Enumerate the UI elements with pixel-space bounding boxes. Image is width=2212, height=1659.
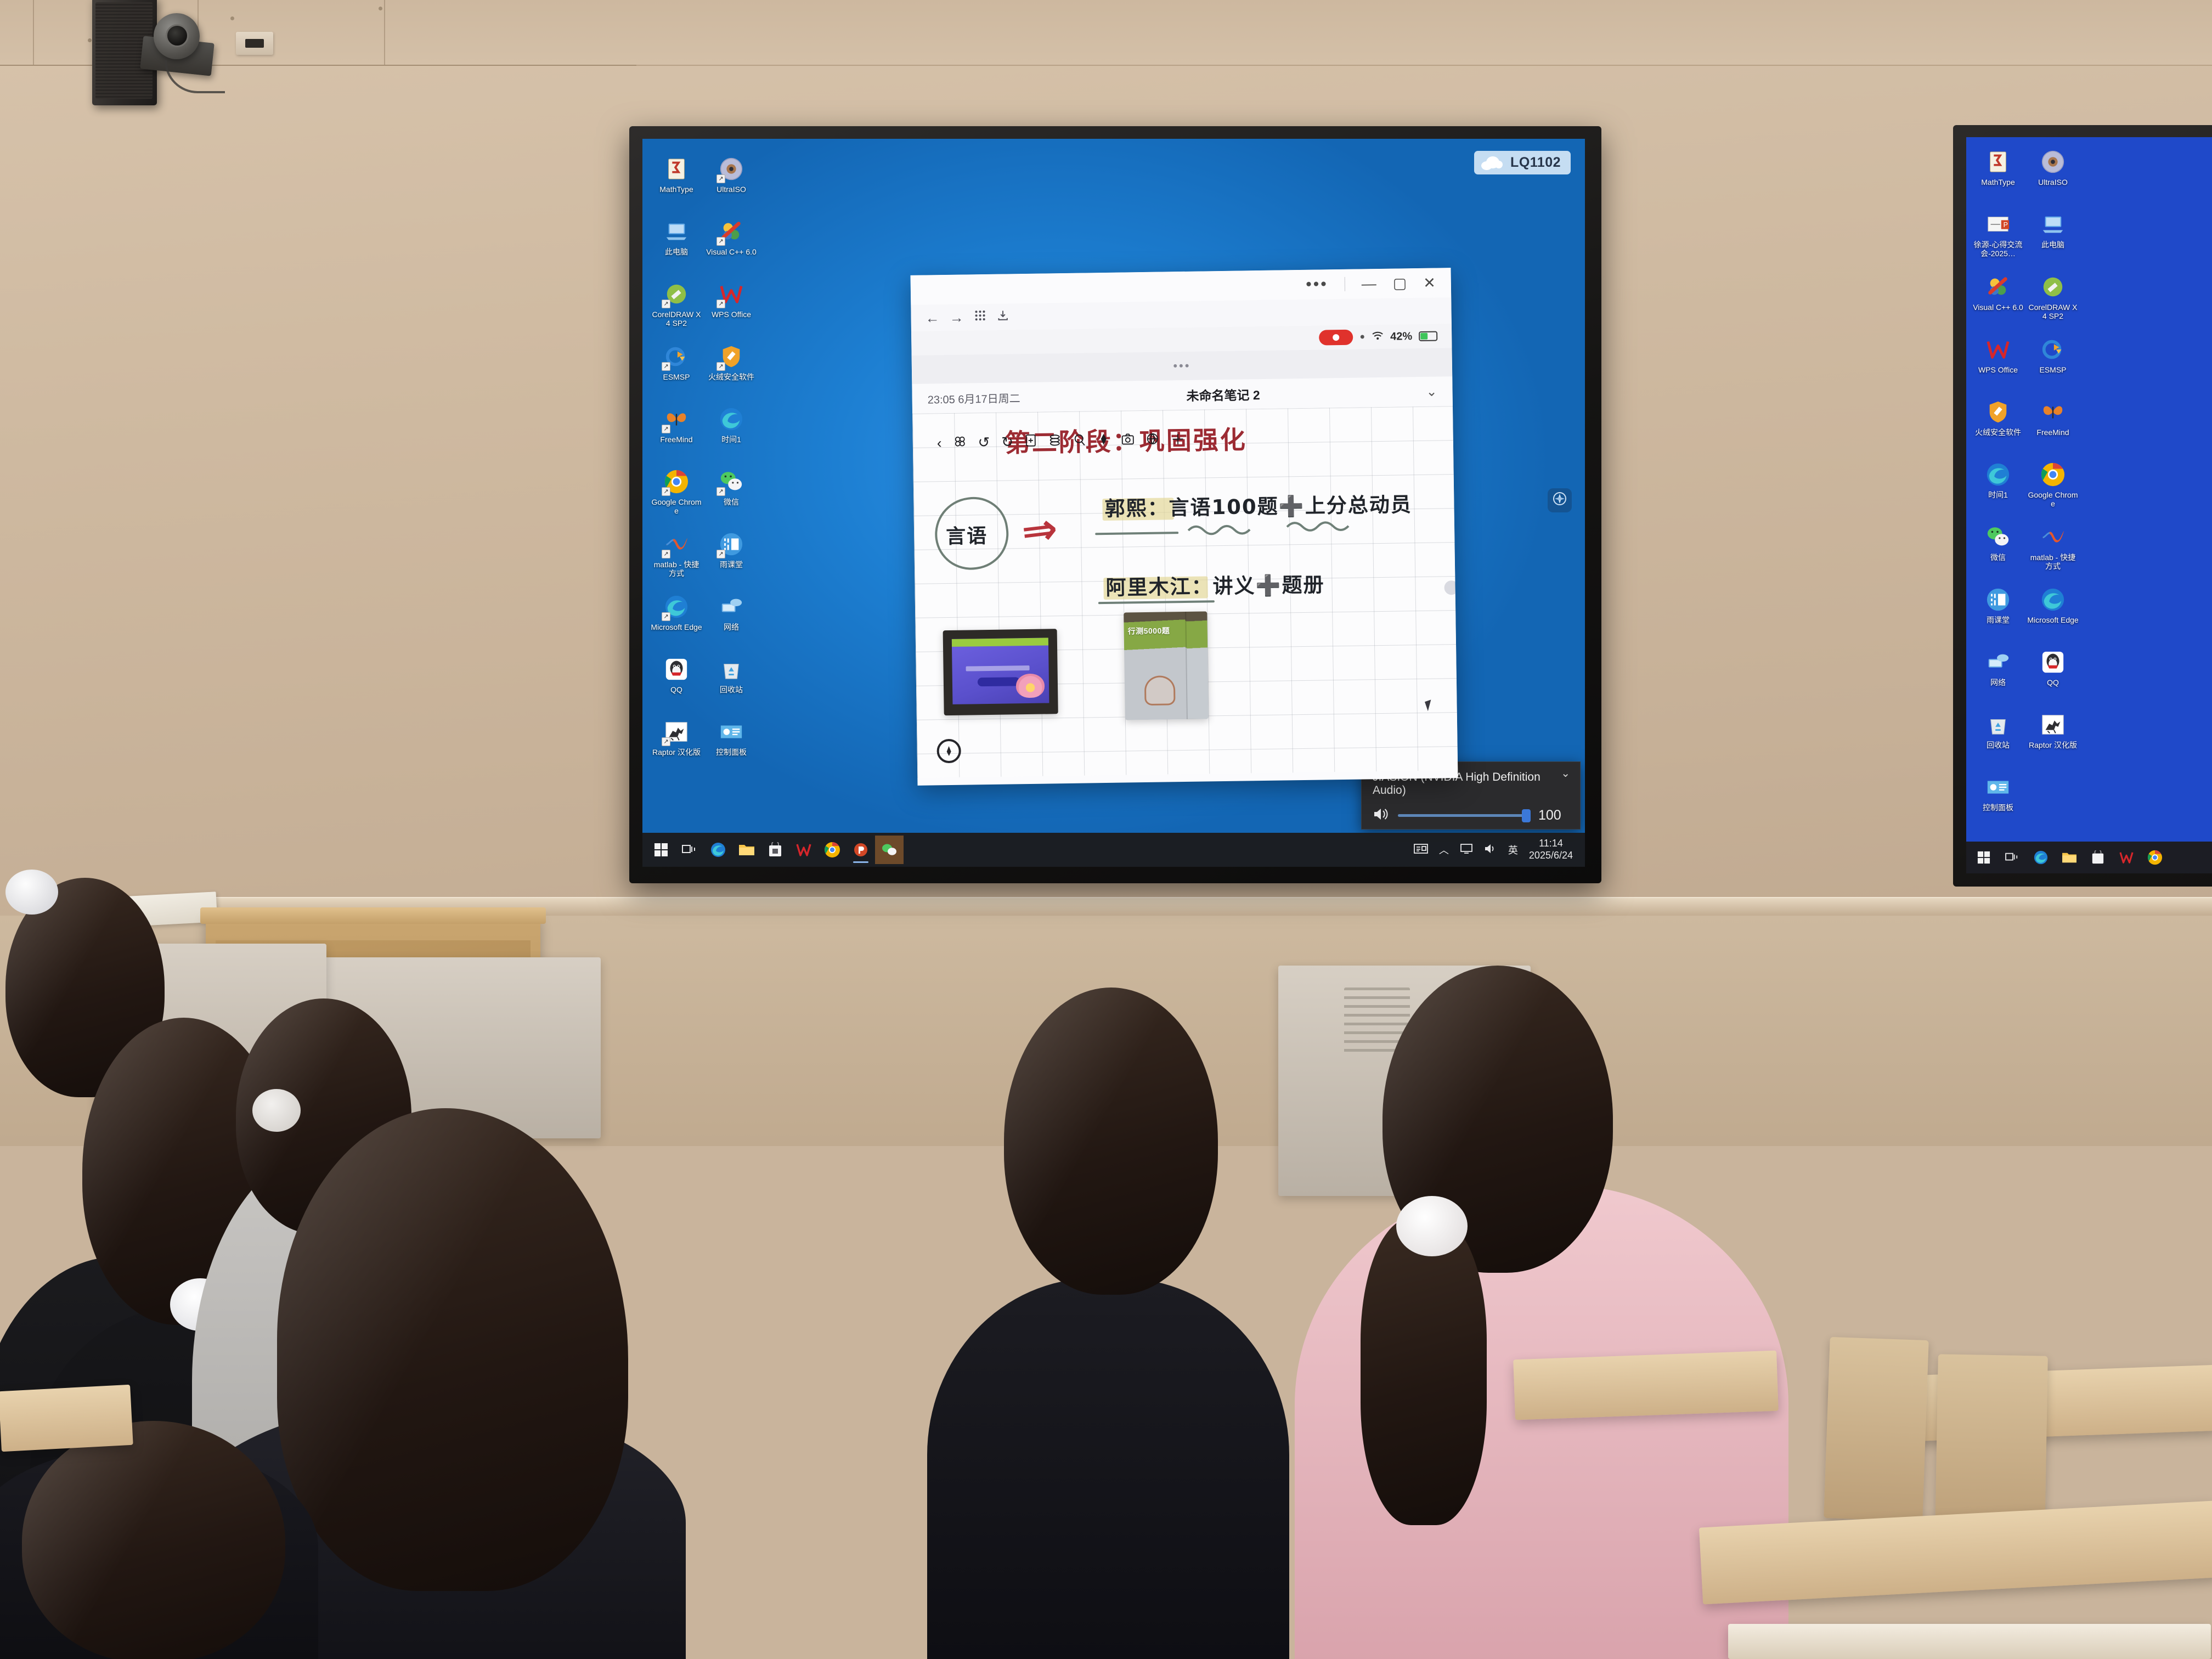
shortcut-arrow-icon: ↗ [716, 362, 725, 371]
console-cabinet [294, 957, 601, 1138]
disc-icon: ↗ [718, 155, 745, 183]
shortcut-arrow-icon: ↗ [716, 487, 725, 496]
wall-screw [88, 38, 92, 42]
desktop-icon-butterfly-icon[interactable]: ↗FreeMind [650, 405, 703, 467]
forward-arrow-icon[interactable]: → [949, 309, 963, 326]
desktop-icon-wps-office-icon[interactable]: WPS Office [1972, 336, 2024, 397]
back-chevron-icon[interactable]: ‹ [937, 436, 942, 450]
main-display-screen[interactable]: 投影效果，请关闭； ： ： ： 85966022 ： 84832095 LQ11… [642, 139, 1585, 867]
wechat-icon[interactable] [875, 836, 904, 864]
control-panel-icon [718, 718, 745, 746]
apps-grid-icon[interactable] [973, 308, 986, 325]
room-code-label: LQ1102 [1510, 155, 1561, 171]
squiggle-underline [1098, 595, 1279, 609]
maximize-button[interactable]: ▢ [1393, 276, 1407, 291]
close-button[interactable]: ✕ [1423, 275, 1436, 290]
layers-icon[interactable] [1048, 433, 1062, 449]
wps-office-icon [1984, 336, 2012, 363]
desktop-icon-mathtype-icon[interactable]: MathType [650, 155, 703, 217]
desktop-icon-wechat-icon[interactable]: 微信 [1972, 523, 2024, 585]
compass-icon [1553, 492, 1567, 509]
mouse-cursor-icon [1425, 699, 1434, 711]
shortcut-arrow-icon: ↗ [716, 300, 725, 308]
volume-slider[interactable] [1398, 814, 1530, 817]
camera-icon[interactable] [1121, 433, 1135, 447]
pen-icon[interactable] [1098, 433, 1110, 448]
embedded-image-workbook-photo[interactable]: 行测5000题 [1124, 611, 1209, 720]
desktop-icon-label: MathType [1972, 178, 2024, 187]
desktop-icon-edge-icon[interactable]: ↗Microsoft Edge [650, 593, 703, 654]
note-app-window[interactable]: ••• — ▢ ✕ ← → [911, 268, 1458, 786]
recording-indicator [1319, 330, 1353, 346]
desktop-icon-recycle-bin-icon[interactable]: 回收站 [705, 656, 758, 717]
floating-nav-ball[interactable] [1548, 488, 1572, 512]
desktop-icon-label: UltraISO [2027, 178, 2079, 187]
desktop-icon-label: 火绒安全软件 [705, 373, 758, 381]
speaker-icon[interactable] [1484, 843, 1497, 857]
start-button[interactable] [647, 836, 675, 864]
desktop-icon-label: Google Chrome [650, 498, 703, 515]
desktop-icon-label: WPS Office [1972, 365, 2024, 374]
back-arrow-icon[interactable]: ← [925, 309, 939, 326]
desktop-icon-wps-office-icon[interactable]: ↗WPS Office [705, 280, 758, 342]
secondary-display-screen[interactable]: MathTypeUltraISOP徐源-心得交流会-2025…此电脑Visual… [1966, 137, 2212, 873]
mathtype-icon [1984, 148, 2012, 176]
desktop-icon-label: CorelDRAW X4 SP2 [650, 310, 703, 328]
desktop-icon-label: 网络 [1972, 678, 2024, 687]
desktop-icon-recycle-bin-icon[interactable]: 回收站 [1972, 711, 2024, 772]
tablet-text-line [966, 665, 1029, 672]
cloud-icon [1481, 156, 1504, 170]
desktop-icon-rain-classroom-icon[interactable]: ↗雨课堂 [705, 531, 758, 592]
save-icon[interactable] [996, 308, 1009, 325]
coreldraw-icon: ↗ [663, 280, 690, 308]
qq-penguin-icon [663, 656, 690, 683]
rain-classroom-icon [1984, 586, 2012, 613]
handwriting-topic-label: 言语 [946, 520, 988, 549]
matlab-icon [2039, 523, 2067, 551]
add-page-icon[interactable] [1025, 434, 1037, 449]
desktop-icon-chrome-icon[interactable]: Google Chrome [2027, 461, 2079, 522]
desktop-icon-control-panel-icon[interactable]: 控制面板 [705, 718, 758, 780]
desktop-icon-esmsp-icon[interactable]: ESMSP [2027, 336, 2079, 397]
disc-icon [2039, 148, 2067, 176]
file-explorer-icon[interactable] [732, 836, 761, 864]
desktop-icon-label: ESMSP [2027, 365, 2079, 374]
bluetooth-icon: ● [1359, 332, 1365, 342]
powerpoint-file-icon: P [1984, 211, 2012, 238]
windows-taskbar[interactable]: ︿ 英 11:14 2025/6/24 [642, 833, 1585, 867]
microsoft-store-icon[interactable] [2084, 843, 2112, 872]
desktop-icon-raptor-dinosaur-icon[interactable]: Raptor 汉化版 [2027, 711, 2079, 772]
desktop-icon-esmsp-icon[interactable]: ↗ESMSP [650, 343, 703, 404]
tablet-screen-content [952, 637, 1049, 704]
wall-upper-panel [0, 0, 2212, 66]
collapse-caret[interactable]: ⌄ [1561, 766, 1570, 780]
podium-top-surface [200, 907, 546, 924]
desktop-icon-label: CorelDRAW X4 SP2 [2027, 303, 2079, 320]
desktop-icon-qq-penguin-icon[interactable]: QQ [2027, 648, 2079, 710]
chevron-up-icon[interactable]: ︿ [1439, 843, 1449, 857]
note-timestamp: 23:05 6月17日周二 [927, 390, 1020, 407]
desktop-icon-this-pc-icon[interactable]: 此电脑 [650, 218, 703, 279]
edge-icon [2039, 586, 2067, 613]
desktop-icon-label: Google Chrome [2027, 490, 2079, 508]
desktop-icon-label: 时间1 [705, 435, 758, 444]
desktop-icon-label: Visual C++ 6.0 [705, 247, 758, 256]
desktop-icon-label: QQ [650, 685, 703, 694]
desktop-icon-label: 控制面板 [705, 748, 758, 757]
desktop-icon-powerpoint-file-icon[interactable]: P徐源-心得交流会-2025… [1972, 211, 2024, 272]
desktop-icon-grid[interactable]: MathType↗UltraISO此电脑↗Visual C++ 6.0↗Core… [650, 155, 758, 780]
note-title[interactable]: 未命名笔记 2 [1186, 385, 1260, 404]
network-icon [1984, 648, 2012, 676]
note-canvas[interactable]: 第二阶段：巩固强化 ‹ ↺ ↻ [912, 406, 1458, 778]
cabinet-vents [1344, 988, 1410, 1053]
wps-office-icon: ↗ [718, 280, 745, 308]
shortcut-arrow-icon: ↗ [716, 174, 725, 183]
tab-more-dots[interactable]: ••• [1173, 361, 1190, 371]
camera-lens-icon [166, 24, 189, 47]
handwriting-arrow: ⇒ [1019, 506, 1060, 553]
pen-circle-icon[interactable] [936, 739, 961, 764]
desktop-icon-label: 雨课堂 [705, 560, 758, 569]
shortcut-arrow-icon: ↗ [662, 550, 670, 558]
tablet-button-pill [978, 678, 1020, 687]
edge-icon[interactable] [2027, 843, 2055, 872]
edge-icon [1984, 461, 2012, 488]
tablet-flower-sticker [1016, 674, 1045, 698]
edge-icon[interactable] [704, 836, 732, 864]
desktop-icon-label: Raptor 汉化版 [650, 748, 703, 757]
desktop-icon-edge-icon[interactable]: 时间1 [1972, 461, 2024, 522]
huorong-shield-icon [1984, 398, 2012, 426]
desktop-icon-disc-icon[interactable]: UltraISO [2027, 148, 2079, 210]
squiggle-underline [1095, 516, 1425, 543]
wifi-icon [1372, 331, 1384, 342]
desktop-icon-label: WPS Office [705, 310, 758, 319]
wall-outlet [236, 32, 273, 55]
powerpoint-icon[interactable] [847, 836, 875, 864]
globe-icon[interactable] [1146, 432, 1159, 448]
desktop-icon-huorong-shield-icon[interactable]: 火绒安全软件 [1972, 398, 2024, 460]
visual-cpp-icon: ↗ [718, 218, 745, 245]
huorong-shield-icon: ↗ [718, 343, 745, 370]
desktop-icon-visual-cpp-icon[interactable]: Visual C++ 6.0 [1972, 273, 2024, 335]
shortcut-arrow-icon: ↗ [662, 737, 670, 746]
desktop-icon-label: Visual C++ 6.0 [1972, 303, 2024, 312]
desktop-icon-network-icon[interactable]: 网络 [1972, 648, 2024, 710]
desktop-icon-raptor-dinosaur-icon[interactable]: ↗Raptor 汉化版 [650, 718, 703, 780]
coreldraw-icon [2039, 273, 2067, 301]
desktop-icon-wechat-icon[interactable]: ↗微信 [705, 468, 758, 529]
wall-screw [230, 16, 234, 20]
desktop-icon-label: matlab - 快捷方式 [2027, 553, 2079, 571]
raptor-dinosaur-icon: ↗ [663, 718, 690, 746]
desktop-icon-label: 微信 [1972, 553, 2024, 562]
desktop-icon-qq-penguin-icon[interactable]: QQ [650, 656, 703, 717]
volume-value: 100 [1538, 808, 1569, 823]
desktop-icon-matlab-icon[interactable]: matlab - 快捷方式 [2027, 523, 2079, 585]
rain-classroom-icon: ↗ [718, 531, 745, 558]
desktop-icon-coreldraw-icon[interactable]: CorelDRAW X4 SP2 [2027, 273, 2079, 335]
microsoft-store-icon[interactable] [761, 836, 789, 864]
this-pc-icon [663, 218, 690, 245]
secondary-desktop-icon-grid[interactable]: MathTypeUltraISOP徐源-心得交流会-2025…此电脑Visual… [1972, 148, 2079, 835]
chrome-icon[interactable] [818, 836, 847, 864]
desktop-icon-label: 控制面板 [1972, 803, 2024, 812]
this-pc-icon [2039, 211, 2067, 238]
butterfly-icon [2039, 398, 2067, 426]
desktop-icon-label: matlab - 快捷方式 [650, 560, 703, 578]
file-explorer-icon[interactable] [2055, 843, 2084, 872]
chrome-icon: ↗ [663, 468, 690, 495]
desktop-icon-label: 此电脑 [2027, 240, 2079, 249]
desktop-icon-visual-cpp-icon[interactable]: ↗Visual C++ 6.0 [705, 218, 758, 279]
redo-icon[interactable]: ↻ [1001, 435, 1013, 449]
workbook-second-copy [1185, 611, 1209, 719]
desktop-icon-label: QQ [2027, 678, 2079, 687]
shortcut-arrow-icon: ↗ [662, 487, 670, 496]
battery-icon [1419, 331, 1437, 341]
undo-icon[interactable]: ↺ [978, 435, 990, 449]
plus-icon[interactable]: ＋ [1171, 432, 1185, 447]
desktop-icon-huorong-shield-icon[interactable]: ↗火绒安全软件 [705, 343, 758, 404]
nav-icon-group[interactable]: ← → [925, 308, 1009, 326]
desktop-icon-rain-classroom-icon[interactable]: 雨课堂 [1972, 586, 2024, 647]
shortcut-arrow-icon: ↗ [716, 237, 725, 246]
monitor-network-icon[interactable] [1460, 843, 1473, 857]
more-options-button[interactable]: ••• [1306, 276, 1328, 293]
chevron-down-icon[interactable]: ⌄ [1426, 383, 1437, 399]
desktop-icon-mathtype-icon[interactable]: MathType [1972, 148, 2024, 210]
desktop-icon-disc-icon[interactable]: ↗UltraISO [705, 155, 758, 217]
wechat-icon: ↗ [718, 468, 745, 495]
room-code-badge[interactable]: LQ1102 [1474, 151, 1571, 174]
raptor-dinosaur-icon [2039, 711, 2067, 738]
embedded-image-tablet-photo[interactable] [943, 629, 1058, 715]
desktop-icon-edge-icon[interactable]: 时间1 [705, 405, 758, 467]
battery-percent-label: 42% [1390, 330, 1412, 343]
wps-office-icon[interactable] [2112, 843, 2141, 872]
wechat-icon [1984, 523, 2012, 551]
wall-seam [33, 0, 34, 65]
recycle-bin-icon [718, 656, 745, 683]
desktop-icon-label: MathType [650, 185, 703, 194]
desktop-icon-edge-icon[interactable]: Microsoft Edge [2027, 586, 2079, 647]
butterfly-icon: ↗ [663, 405, 690, 433]
matlab-icon: ↗ [663, 531, 690, 558]
qq-penguin-icon [2039, 648, 2067, 676]
workbook-figure-doodle [1144, 675, 1176, 706]
desktop-icon-label: Raptor 汉化版 [2027, 741, 2079, 749]
tablet-top-bar [952, 637, 1048, 646]
desktop-icon-label: 火绒安全软件 [1972, 428, 2024, 437]
search-icon[interactable] [1073, 433, 1086, 448]
shapes-icon[interactable] [953, 435, 966, 450]
speaker-icon[interactable] [1373, 807, 1389, 824]
desktop-icon-label: 雨课堂 [1972, 616, 2024, 624]
record-dot-icon [1333, 334, 1339, 341]
desktop-icon-label: 徐源-心得交流会-2025… [1972, 240, 2024, 258]
desktop-icon-label: FreeMind [2027, 428, 2079, 437]
minimize-button[interactable]: — [1362, 276, 1376, 291]
left-cabinet [96, 944, 326, 1130]
desktop-icon-label: UltraISO [705, 185, 758, 194]
wall-screw [379, 7, 382, 10]
shortcut-arrow-icon: ↗ [662, 362, 670, 371]
desktop-icon-label: ESMSP [650, 373, 703, 381]
desktop-icon-label: 回收站 [1972, 741, 2024, 749]
task-view-icon[interactable] [1998, 843, 2027, 872]
edge-icon [718, 405, 745, 433]
system-tray[interactable]: ︿ 英 11:14 2025/6/24 [1414, 838, 1581, 861]
workbook-cover-title: 行测5000题 [1128, 625, 1170, 636]
desktop-icon-this-pc-icon[interactable]: 此电脑 [2027, 211, 2079, 272]
desktop-icon-label: FreeMind [650, 435, 703, 444]
shortcut-arrow-icon: ↗ [662, 425, 670, 433]
volume-slider-knob[interactable] [1522, 809, 1531, 822]
network-icon [718, 593, 745, 620]
battery-fill [1420, 333, 1427, 340]
desktop-icon-label: 时间1 [1972, 490, 2024, 499]
desktop-icon-label: Microsoft Edge [2027, 616, 2079, 624]
news-weather-icon[interactable] [1414, 843, 1428, 857]
chrome-icon[interactable] [2141, 843, 2169, 872]
clock-date: 2025/6/24 [1529, 850, 1573, 862]
desktop-icon-label: 网络 [705, 623, 758, 631]
shortcut-arrow-icon: ↗ [716, 550, 725, 558]
wps-office-icon[interactable] [789, 836, 818, 864]
wall-seam [384, 0, 385, 65]
chrome-icon [2039, 461, 2067, 488]
desktop-icon-butterfly-icon[interactable]: FreeMind [2027, 398, 2079, 460]
titlebar-divider [1345, 277, 1345, 291]
mathtype-icon [663, 155, 690, 183]
visual-cpp-icon [1984, 273, 2012, 301]
svg-text:P: P [2004, 221, 2008, 229]
desktop-icon-label: 此电脑 [650, 247, 703, 256]
desktop-icon-chrome-icon[interactable]: ↗Google Chrome [650, 468, 703, 529]
secondary-taskbar[interactable] [1966, 842, 2212, 873]
control-panel-icon [1984, 774, 2012, 801]
recycle-bin-icon [1984, 711, 2012, 738]
desktop-icon-label: Microsoft Edge [650, 623, 703, 631]
shortcut-arrow-icon: ↗ [662, 612, 670, 621]
desktop-icon-label: 微信 [705, 498, 758, 506]
desktop-icon-control-panel-icon[interactable]: 控制面板 [1972, 774, 2024, 835]
desktop-icon-label: 回收站 [705, 685, 758, 694]
ime-language-indicator[interactable]: 英 [1508, 843, 1518, 857]
clock-time: 11:14 [1529, 838, 1573, 850]
desktop-icon-matlab-icon[interactable]: ↗matlab - 快捷方式 [650, 531, 703, 592]
start-button[interactable] [1970, 843, 1998, 872]
esmsp-icon [2039, 336, 2067, 363]
taskbar-clock[interactable]: 11:14 2025/6/24 [1529, 838, 1573, 861]
shortcut-arrow-icon: ↗ [662, 300, 670, 308]
desktop-icon-network-icon[interactable]: 网络 [705, 593, 758, 654]
desktop-icon-coreldraw-icon[interactable]: ↗CorelDRAW X4 SP2 [650, 280, 703, 342]
task-view-icon[interactable] [675, 836, 704, 864]
esmsp-icon: ↗ [663, 343, 690, 370]
edge-icon: ↗ [663, 593, 690, 620]
